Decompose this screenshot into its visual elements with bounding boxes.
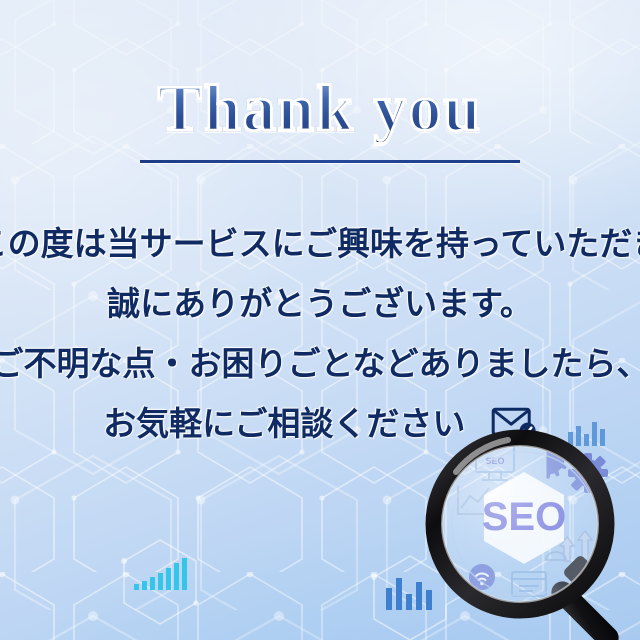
body-line-4: お気軽にご相談ください (103, 404, 465, 443)
magnifier-handle (547, 554, 623, 640)
envelope-check-icon (491, 400, 537, 460)
wifi-icon (469, 564, 495, 590)
cloud-chart-icon (546, 552, 566, 560)
body-line-3: ご不明な点・お困りごとなどありましたら、 (0, 334, 640, 394)
page-title: Thank you (158, 76, 482, 142)
title-divider (140, 160, 520, 163)
body-line-4-row: お気軽にご相談ください (0, 394, 640, 454)
body-line-1: この度は当サービスにご興味を持っていただき (0, 214, 640, 274)
page-title-container: Thank you (0, 76, 640, 142)
bar-chart-icon (386, 578, 432, 610)
seo-label: SEO (482, 495, 566, 539)
body-line-2: 誠にありがとうございます。 (0, 274, 640, 334)
magnifying-glass-icon (434, 438, 606, 610)
body-copy: この度は当サービスにご興味を持っていただき 誠にありがとうございます。 ご不明な… (0, 214, 640, 454)
browser-window-icon (512, 572, 546, 596)
line-chart-icon (458, 486, 492, 514)
bottom-chart-icons (0, 530, 640, 640)
up-arrows-icon (560, 531, 592, 561)
thank-you-slide: Thank you この度は当サービスにご興味を持っていただき 誠にありがとうご… (0, 0, 640, 640)
seo-hexagon-badge: SEO (482, 472, 566, 564)
growth-bars-icon (134, 558, 187, 590)
